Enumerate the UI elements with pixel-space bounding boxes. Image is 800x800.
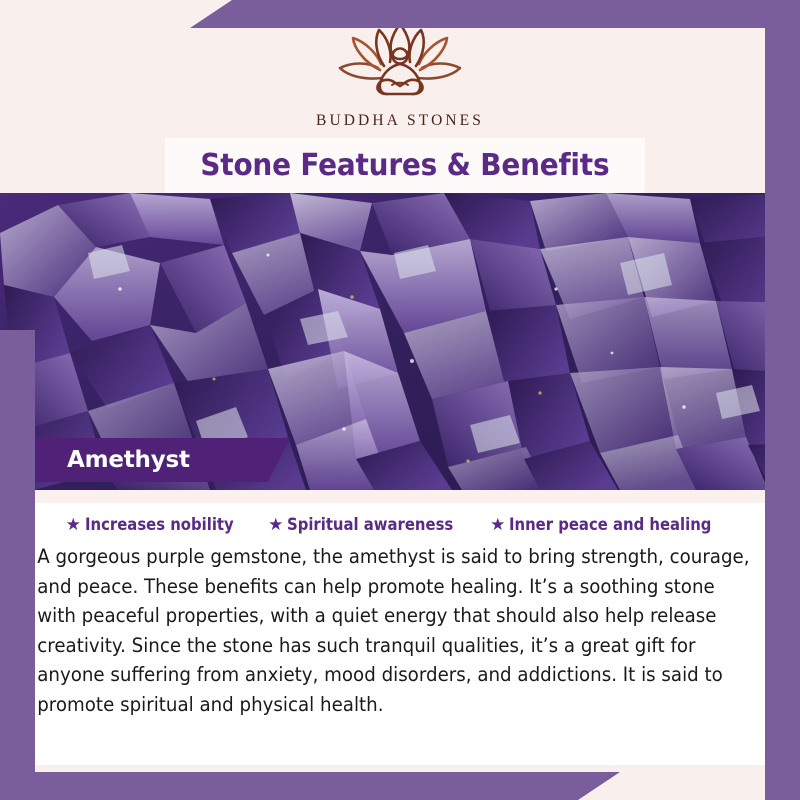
- lotus-meditation-figure-icon: [320, 18, 480, 110]
- benefit-label: Spiritual awareness: [287, 515, 453, 534]
- header: BUDDHA STONES Stone Features & Benefits: [0, 0, 800, 193]
- stone-description: A gorgeous purple gemstone, the amethyst…: [24, 538, 763, 719]
- page-title: Stone Features & Benefits: [201, 148, 610, 183]
- benefit-item: ★ Increases nobility: [66, 515, 250, 534]
- panel-top-tint: [18, 490, 782, 503]
- content-panel: ★ Increases nobility ★ Spiritual awarene…: [18, 490, 782, 765]
- benefit-label: Inner peace and healing: [509, 515, 711, 534]
- stone-photo: Amethyst: [0, 193, 800, 490]
- promo-card: BUDDHA STONES Stone Features & Benefits: [0, 0, 800, 800]
- title-band: Stone Features & Benefits: [165, 138, 645, 193]
- brand-logo: BUDDHA STONES: [316, 18, 484, 130]
- benefit-item: ★ Spiritual awareness: [268, 515, 472, 534]
- brand-name: BUDDHA STONES: [316, 112, 484, 130]
- benefit-label: Increases nobility: [85, 515, 234, 534]
- stone-name-label: Amethyst: [67, 447, 190, 473]
- frame-corner-bottom-left: [0, 772, 620, 800]
- benefit-item: ★ Inner peace and healing: [490, 515, 734, 534]
- benefits-list: ★ Increases nobility ★ Spiritual awarene…: [24, 503, 776, 538]
- panel-edge-right: [782, 28, 800, 763]
- star-icon: ★: [268, 516, 283, 533]
- star-icon: ★: [490, 516, 505, 533]
- stone-name-banner: Amethyst: [20, 438, 290, 482]
- star-icon: ★: [66, 516, 81, 533]
